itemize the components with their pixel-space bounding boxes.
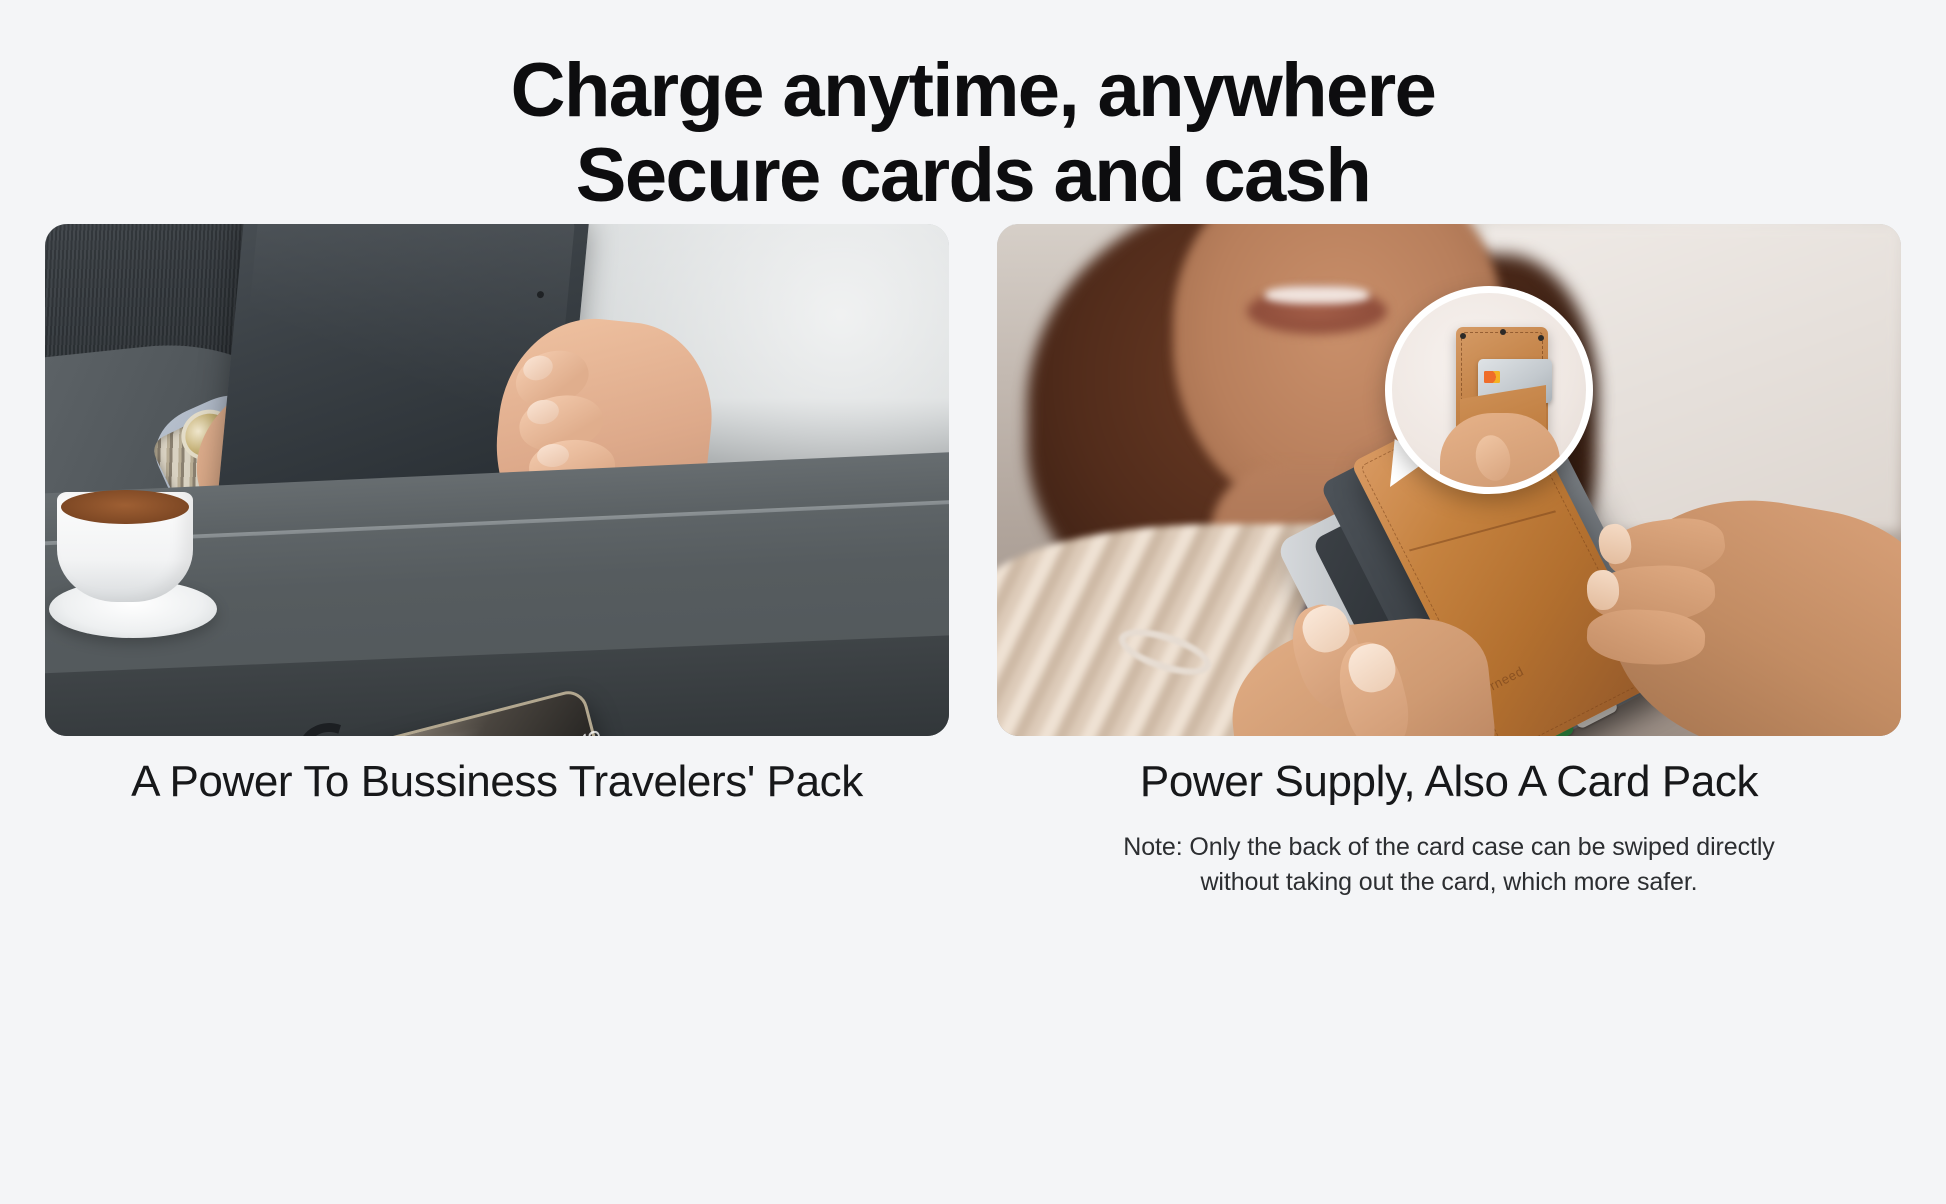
panel-left: 9:41 [45,224,949,736]
headline: Charge anytime, anywhere Secure cards an… [0,48,1946,218]
caption-left: A Power To Bussiness Travelers' Pack [45,756,949,808]
rivet-icon [1500,329,1506,335]
headline-line-2: Secure cards and cash [0,133,1946,218]
image-panels: 9:41 1 2 [45,224,1901,736]
rivet-icon [1460,333,1466,339]
card-network-logo-icon [1484,371,1500,383]
caption-column-left: A Power To Bussiness Travelers' Pack [45,756,949,901]
note-line-2: without taking out the card, which more … [997,865,1901,901]
caption-column-right: Power Supply, Also A Card Pack Note: Onl… [997,756,1901,901]
tablet-camera-icon [537,291,545,298]
coffee-surface [61,490,189,524]
note-line-1: Note: Only the back of the card case can… [997,830,1901,866]
photo-pos-terminal-card-case: 1 2 3 4 5 6 7 8 9 X ← ✓ [997,224,1901,736]
photo-businessman-tablet: 9:41 [45,224,949,736]
captions-row: A Power To Bussiness Travelers' Pack Pow… [45,756,1901,901]
headline-line-1: Charge anytime, anywhere [0,48,1946,133]
panel-right: 1 2 3 4 5 6 7 8 9 X ← ✓ [997,224,1901,736]
note-text: Note: Only the back of the card case can… [997,830,1901,901]
woman-teeth [1265,286,1369,304]
caption-right: Power Supply, Also A Card Pack [997,756,1901,808]
rivet-icon [1538,335,1544,341]
fingernail [1586,569,1620,611]
product-feature-banner: Charge anytime, anywhere Secure cards an… [0,0,1946,1204]
zoom-callout-circle: 0000 everneed [1385,286,1593,494]
